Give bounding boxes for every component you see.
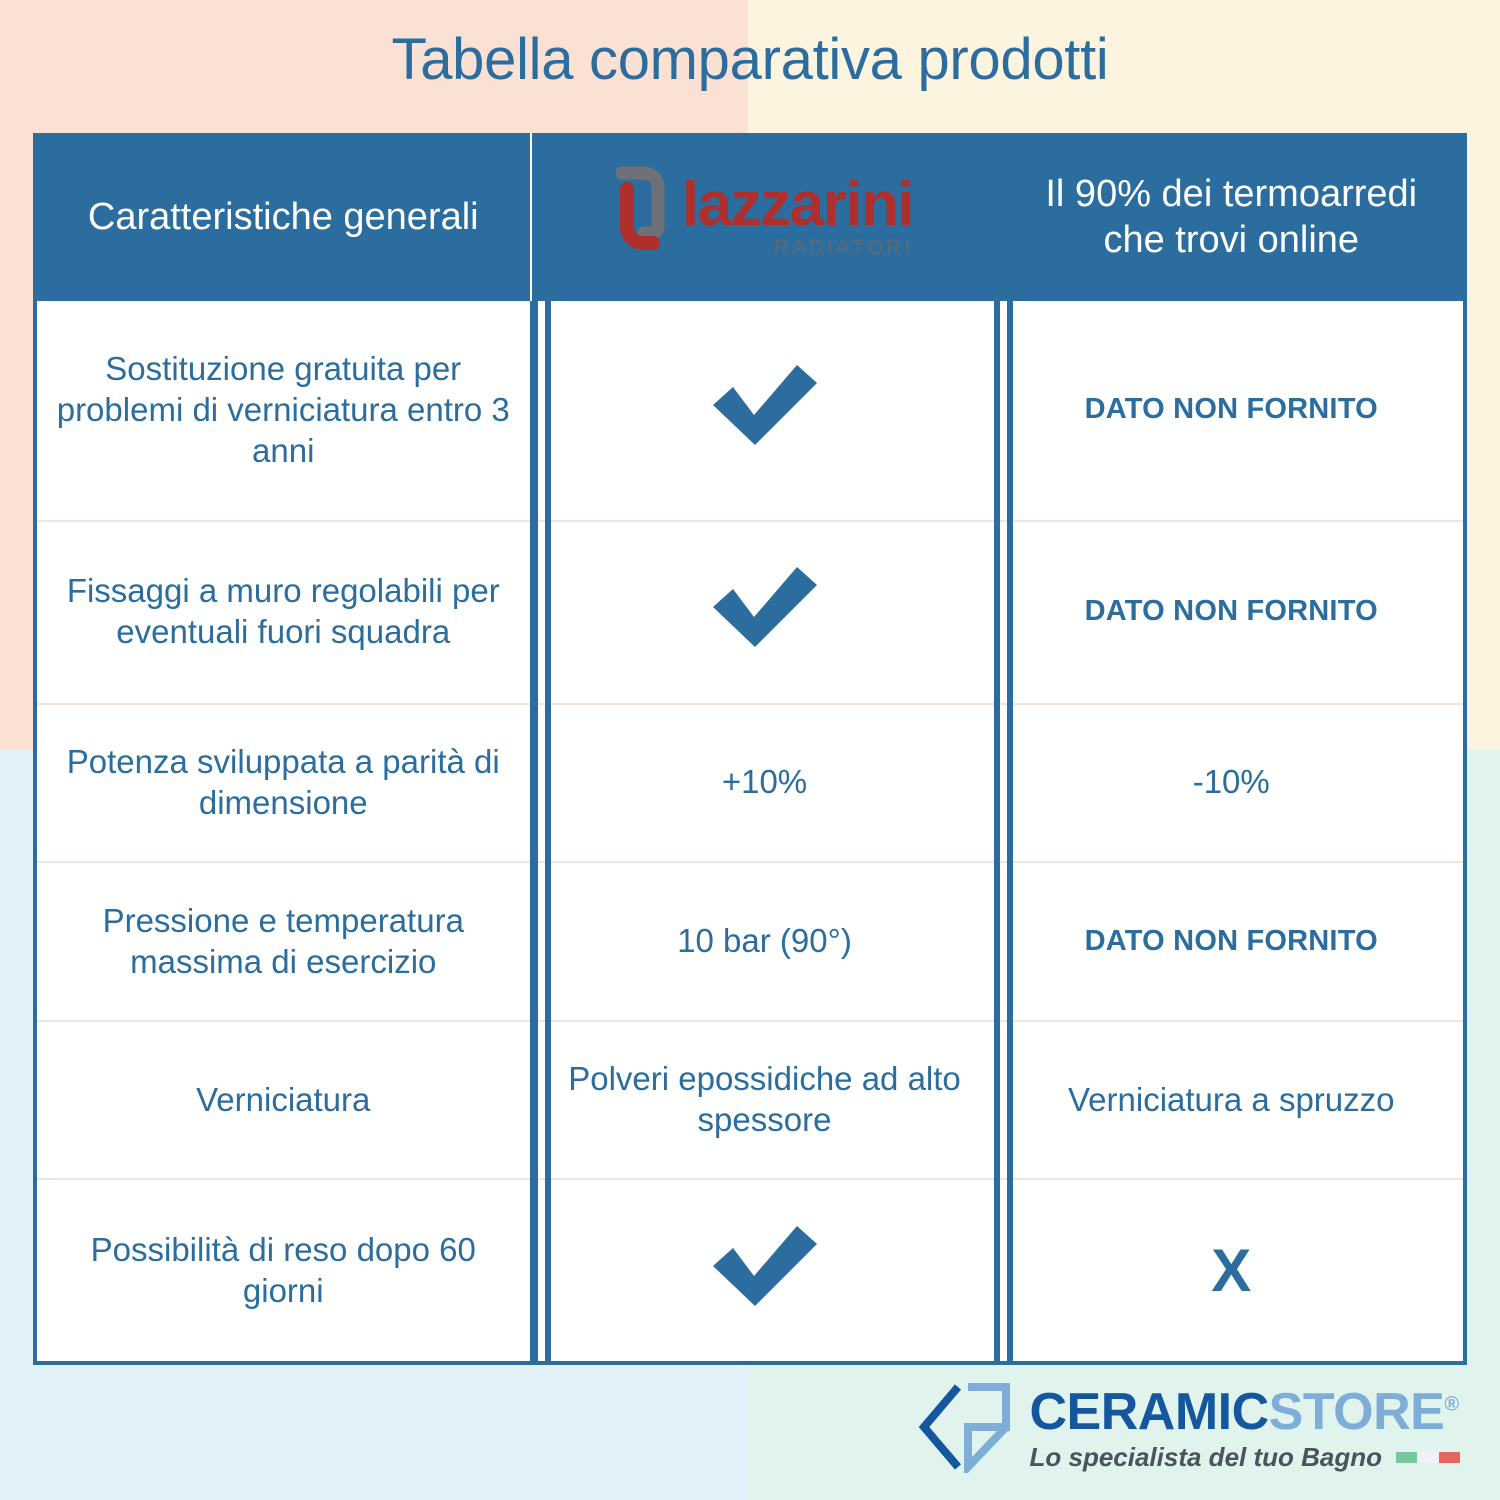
brand-store: STORE	[1269, 1383, 1445, 1441]
feature-label: Sostituzione gratuita per problemi di ve…	[37, 301, 532, 521]
check-icon	[709, 361, 821, 449]
header-features: Caratteristiche generali	[37, 133, 532, 301]
feature-label: Potenza sviluppata a parità di dimension…	[37, 704, 532, 863]
flag-stripe-white	[1417, 1452, 1438, 1463]
ceramicstore-wordmark: CERAMICSTORE®	[1030, 1386, 1461, 1438]
check-icon	[532, 1179, 997, 1361]
ceramicstore-text-block: CERAMICSTORE® Lo specialista del tuo Bag…	[1030, 1386, 1461, 1473]
feature-label: Pressione e temperatura massima di eserc…	[37, 862, 532, 1021]
ceramicstore-tagline: Lo specialista del tuo Bagno	[1030, 1442, 1383, 1473]
table-row: VerniciaturaPolveri epossidiche ad alto …	[37, 1021, 1463, 1180]
lazzarini-wordmark: lazzarini	[682, 176, 913, 235]
table-header: Caratteristiche generali lazzarini	[37, 133, 1463, 301]
flag-stripe-red	[1439, 1452, 1460, 1463]
registered-mark: ®	[1444, 1394, 1458, 1416]
table-row: Possibilità di reso dopo 60 giorniX	[37, 1179, 1463, 1361]
table-row: Sostituzione gratuita per problemi di ve…	[37, 301, 1463, 521]
cell-value-competitor: Verniciatura a spruzzo	[997, 1021, 1463, 1180]
feature-label: Possibilità di reso dopo 60 giorni	[37, 1179, 532, 1361]
cell-value-competitor: DATO NON FORNITO	[997, 301, 1463, 521]
italian-flag-icon	[1396, 1452, 1460, 1463]
check-icon	[709, 1222, 821, 1310]
brand-ceramic: CERAMIC	[1030, 1383, 1269, 1441]
cell-value-lazzarini: 10 bar (90°)	[532, 862, 997, 1021]
cell-value-lazzarini: +10%	[532, 704, 997, 863]
x-icon: X	[1211, 1237, 1251, 1304]
lazzarini-logo: lazzarini RADIATORI	[535, 133, 995, 301]
ceramicstore-mark-icon	[918, 1381, 1014, 1478]
table-row: Fissaggi a muro regolabili per eventuali…	[37, 521, 1463, 704]
tagline-row: Lo specialista del tuo Bagno	[1030, 1442, 1461, 1473]
comparison-table-container: Caratteristiche generali lazzarini	[33, 133, 1467, 1365]
lazzarini-text-block: lazzarini RADIATORI	[682, 176, 913, 258]
x-icon: X	[997, 1179, 1463, 1361]
header-competitor: Il 90% dei termoarredi che trovi online	[997, 133, 1463, 301]
feature-label: Verniciatura	[37, 1021, 532, 1180]
check-icon	[532, 521, 997, 704]
table-row: Potenza sviluppata a parità di dimension…	[37, 704, 1463, 863]
cell-value-competitor: DATO NON FORNITO	[997, 862, 1463, 1021]
flag-stripe-green	[1396, 1452, 1417, 1463]
ceramicstore-logo: CERAMICSTORE® Lo specialista del tuo Bag…	[918, 1381, 1461, 1478]
page-title: Tabella comparativa prodotti	[0, 28, 1500, 92]
comparison-table: Caratteristiche generali lazzarini	[37, 133, 1463, 1361]
cell-value-lazzarini: Polveri epossidiche ad alto spessore	[532, 1021, 997, 1180]
table-body: Sostituzione gratuita per problemi di ve…	[37, 301, 1463, 1361]
cell-value-competitor: DATO NON FORNITO	[997, 521, 1463, 704]
check-icon	[709, 563, 821, 651]
table-row: Pressione e temperatura massima di eserc…	[37, 862, 1463, 1021]
lazzarini-subtitle: RADIATORI	[682, 237, 913, 258]
header-lazzarini: lazzarini RADIATORI	[532, 133, 997, 301]
table-header-row: Caratteristiche generali lazzarini	[37, 133, 1463, 301]
radiator-logo-icon	[616, 163, 670, 270]
cell-value-competitor: -10%	[997, 704, 1463, 863]
feature-label: Fissaggi a muro regolabili per eventuali…	[37, 521, 532, 704]
check-icon	[532, 301, 997, 521]
comparison-infographic: Tabella comparativa prodotti Caratterist…	[0, 0, 1500, 1500]
